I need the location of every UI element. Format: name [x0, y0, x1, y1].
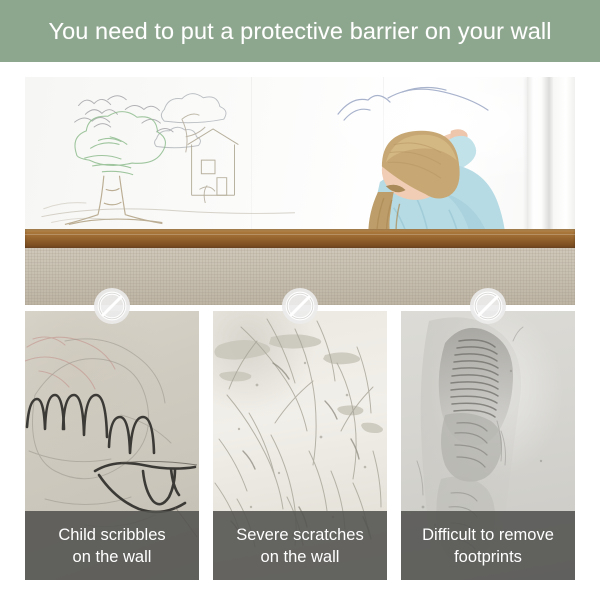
wall-seam [251, 77, 252, 229]
panel-severe-scratches: Severe scratches on the wall [213, 311, 387, 580]
child-drawing-on-wall-photo [25, 77, 575, 305]
caption-line-2: on the wall [261, 546, 340, 568]
product-feature-graphic: You need to put a protective barrier on … [0, 0, 600, 600]
panel-footprints: Difficult to remove footprints [401, 311, 575, 580]
panel-caption: Difficult to remove footprints [401, 511, 575, 580]
panel-child-scribbles: Child scribbles on the wall [25, 311, 199, 580]
problem-panels: Child scribbles on the wall [25, 311, 575, 580]
caption-line-2: footprints [454, 546, 522, 568]
panel-caption: Severe scratches on the wall [213, 511, 387, 580]
caption-line-1: Child scribbles [58, 524, 165, 546]
prohibition-icon [93, 287, 131, 325]
prohibition-icon [281, 287, 319, 325]
wood-baseboard [25, 229, 575, 248]
caption-line-2: on the wall [73, 546, 152, 568]
caption-line-1: Difficult to remove [422, 524, 554, 546]
header-title: You need to put a protective barrier on … [48, 18, 551, 45]
prohibition-icon [469, 287, 507, 325]
header-banner: You need to put a protective barrier on … [0, 0, 600, 62]
panel-caption: Child scribbles on the wall [25, 511, 199, 580]
caption-line-1: Severe scratches [236, 524, 363, 546]
